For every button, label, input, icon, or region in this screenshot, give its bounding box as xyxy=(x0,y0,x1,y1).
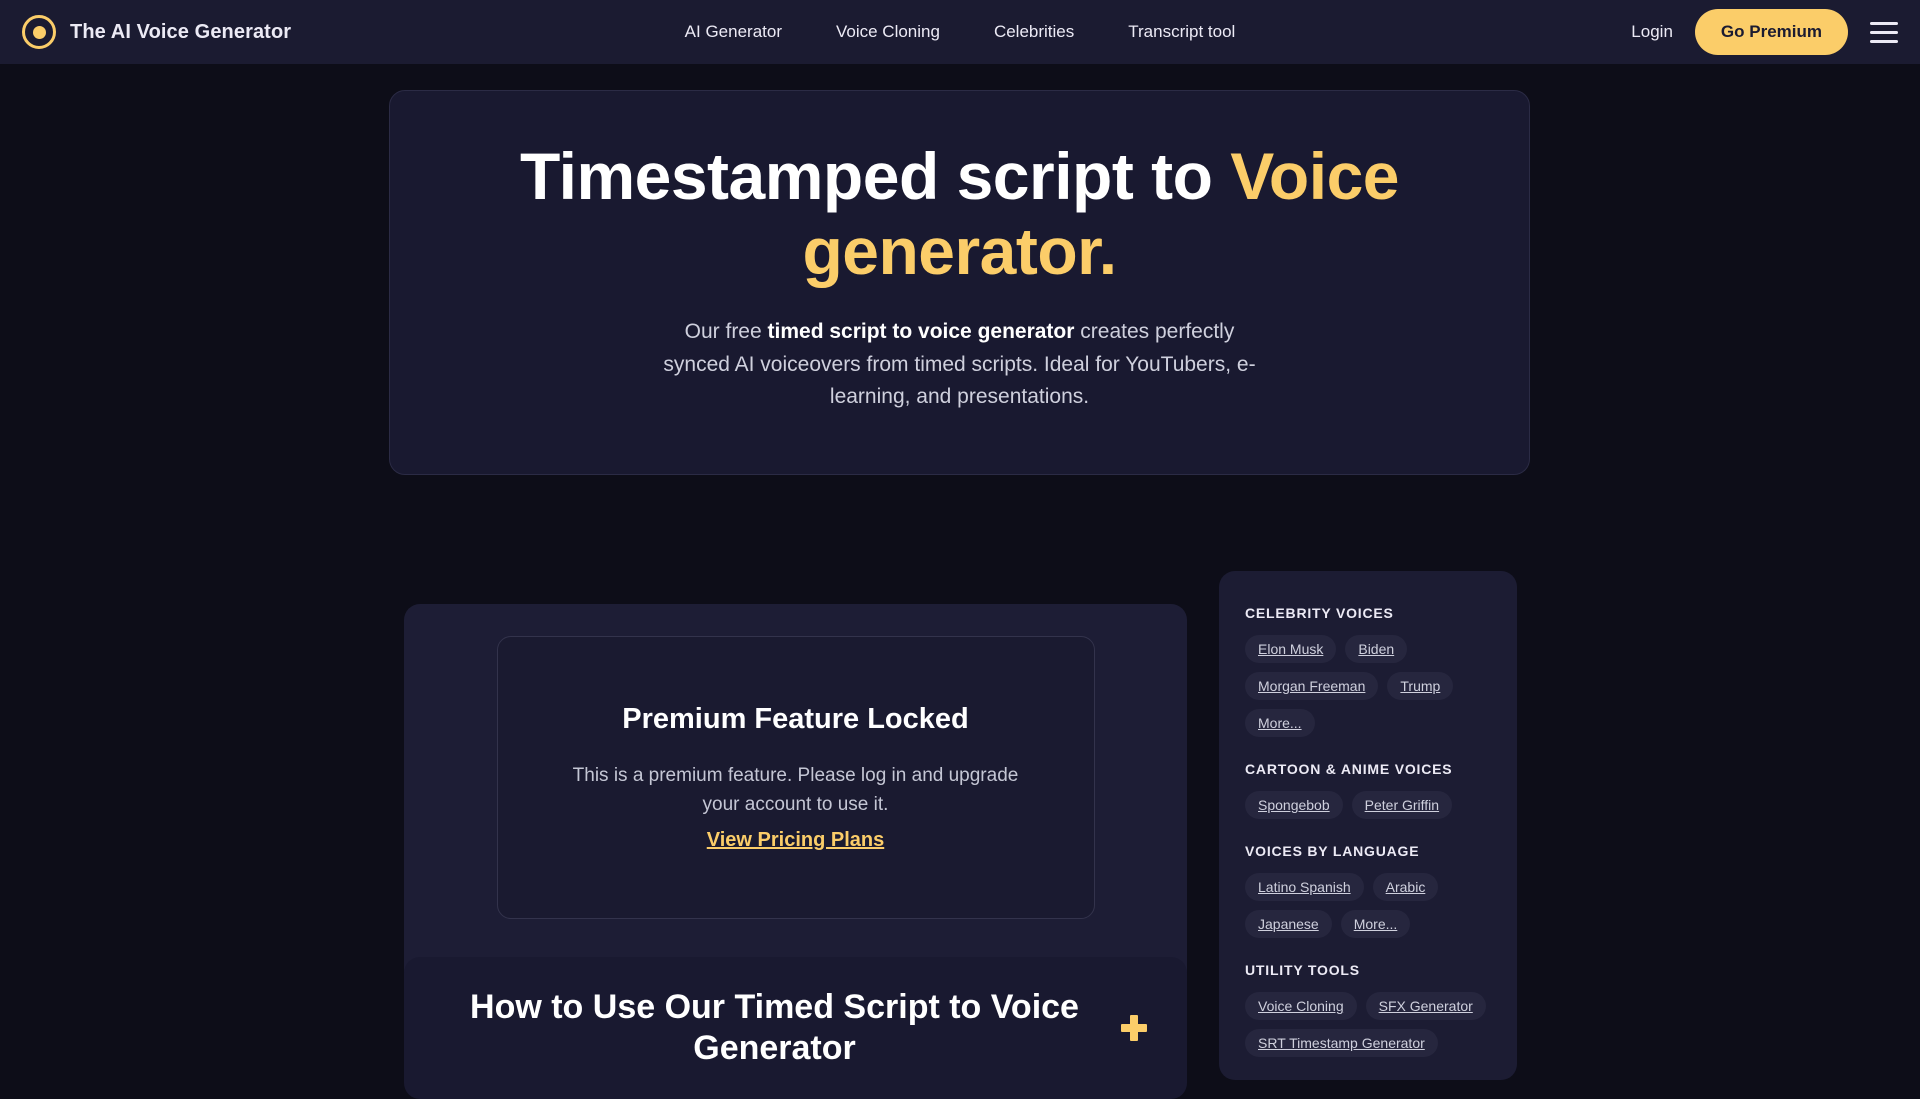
nav-item-transcript-tool[interactable]: Transcript tool xyxy=(1128,22,1235,42)
sidebar-group-title: CELEBRITY VOICES xyxy=(1245,605,1491,621)
hamburger-menu-icon[interactable] xyxy=(1870,22,1898,43)
tag-latino-spanish[interactable]: Latino Spanish xyxy=(1245,873,1364,901)
page-title-plain: Timestamped script to xyxy=(520,139,1230,213)
hero-subtitle: Our free timed script to voice generator… xyxy=(660,316,1260,414)
login-link[interactable]: Login xyxy=(1631,22,1673,42)
tag-trump[interactable]: Trump xyxy=(1387,672,1453,700)
nav-item-voice-cloning[interactable]: Voice Cloning xyxy=(836,22,940,42)
sidebar-group-celebrity-voices: CELEBRITY VOICES Elon Musk Biden Morgan … xyxy=(1245,605,1491,737)
sidebar-group-title: VOICES BY LANGUAGE xyxy=(1245,843,1491,859)
hero-subtitle-bold: timed script to voice generator xyxy=(768,320,1075,343)
tag-list: Latino Spanish Arabic Japanese More... xyxy=(1245,873,1491,938)
brand-name: The AI Voice Generator xyxy=(70,21,291,44)
premium-locked-card: Premium Feature Locked This is a premium… xyxy=(497,636,1095,919)
site-header: The AI Voice Generator AI Generator Voic… xyxy=(0,0,1920,64)
hero-subtitle-before: Our free xyxy=(685,320,768,343)
tag-more-language[interactable]: More... xyxy=(1341,910,1411,938)
tag-voice-cloning[interactable]: Voice Cloning xyxy=(1245,992,1357,1020)
main-navigation: AI Generator Voice Cloning Celebrities T… xyxy=(685,22,1236,42)
page-title: Timestamped script to Voice generator. xyxy=(450,139,1469,288)
tag-more-celebrity[interactable]: More... xyxy=(1245,709,1315,737)
plus-icon[interactable] xyxy=(1121,1015,1147,1041)
view-pricing-plans-link[interactable]: View Pricing Plans xyxy=(707,829,884,852)
circle-dot-icon xyxy=(22,15,56,49)
tag-japanese[interactable]: Japanese xyxy=(1245,910,1332,938)
tag-spongebob[interactable]: Spongebob xyxy=(1245,791,1343,819)
tag-sfx-generator[interactable]: SFX Generator xyxy=(1366,992,1486,1020)
sidebar-group-utility-tools: UTILITY TOOLS Voice Cloning SFX Generato… xyxy=(1245,962,1491,1057)
tag-elon-musk[interactable]: Elon Musk xyxy=(1245,635,1336,663)
brand-logo[interactable]: The AI Voice Generator xyxy=(22,15,291,49)
tag-srt-timestamp-generator[interactable]: SRT Timestamp Generator xyxy=(1245,1029,1438,1057)
sidebar-group-voices-by-language: VOICES BY LANGUAGE Latino Spanish Arabic… xyxy=(1245,843,1491,938)
hero-card: Timestamped script to Voice generator. O… xyxy=(389,90,1530,475)
header-actions: Login Go Premium xyxy=(1631,9,1898,55)
sidebar-group-cartoon-anime-voices: CARTOON & ANIME VOICES Spongebob Peter G… xyxy=(1245,761,1491,819)
tag-biden[interactable]: Biden xyxy=(1345,635,1407,663)
tag-arabic[interactable]: Arabic xyxy=(1373,873,1439,901)
tag-list: Voice Cloning SFX Generator SRT Timestam… xyxy=(1245,992,1491,1057)
locked-title: Premium Feature Locked xyxy=(622,703,969,736)
how-to-accordion[interactable]: How to Use Our Timed Script to Voice Gen… xyxy=(404,957,1187,1099)
sidebar-group-title: UTILITY TOOLS xyxy=(1245,962,1491,978)
tag-list: Elon Musk Biden Morgan Freeman Trump Mor… xyxy=(1245,635,1491,737)
voices-sidebar: CELEBRITY VOICES Elon Musk Biden Morgan … xyxy=(1219,571,1517,1080)
tag-morgan-freeman[interactable]: Morgan Freeman xyxy=(1245,672,1378,700)
accordion-title: How to Use Our Timed Script to Voice Gen… xyxy=(444,987,1105,1069)
tag-list: Spongebob Peter Griffin xyxy=(1245,791,1491,819)
nav-item-celebrities[interactable]: Celebrities xyxy=(994,22,1074,42)
tag-peter-griffin[interactable]: Peter Griffin xyxy=(1352,791,1452,819)
locked-description: This is a premium feature. Please log in… xyxy=(571,762,1021,820)
nav-item-ai-generator[interactable]: AI Generator xyxy=(685,22,782,42)
sidebar-group-title: CARTOON & ANIME VOICES xyxy=(1245,761,1491,777)
go-premium-button[interactable]: Go Premium xyxy=(1695,9,1848,55)
